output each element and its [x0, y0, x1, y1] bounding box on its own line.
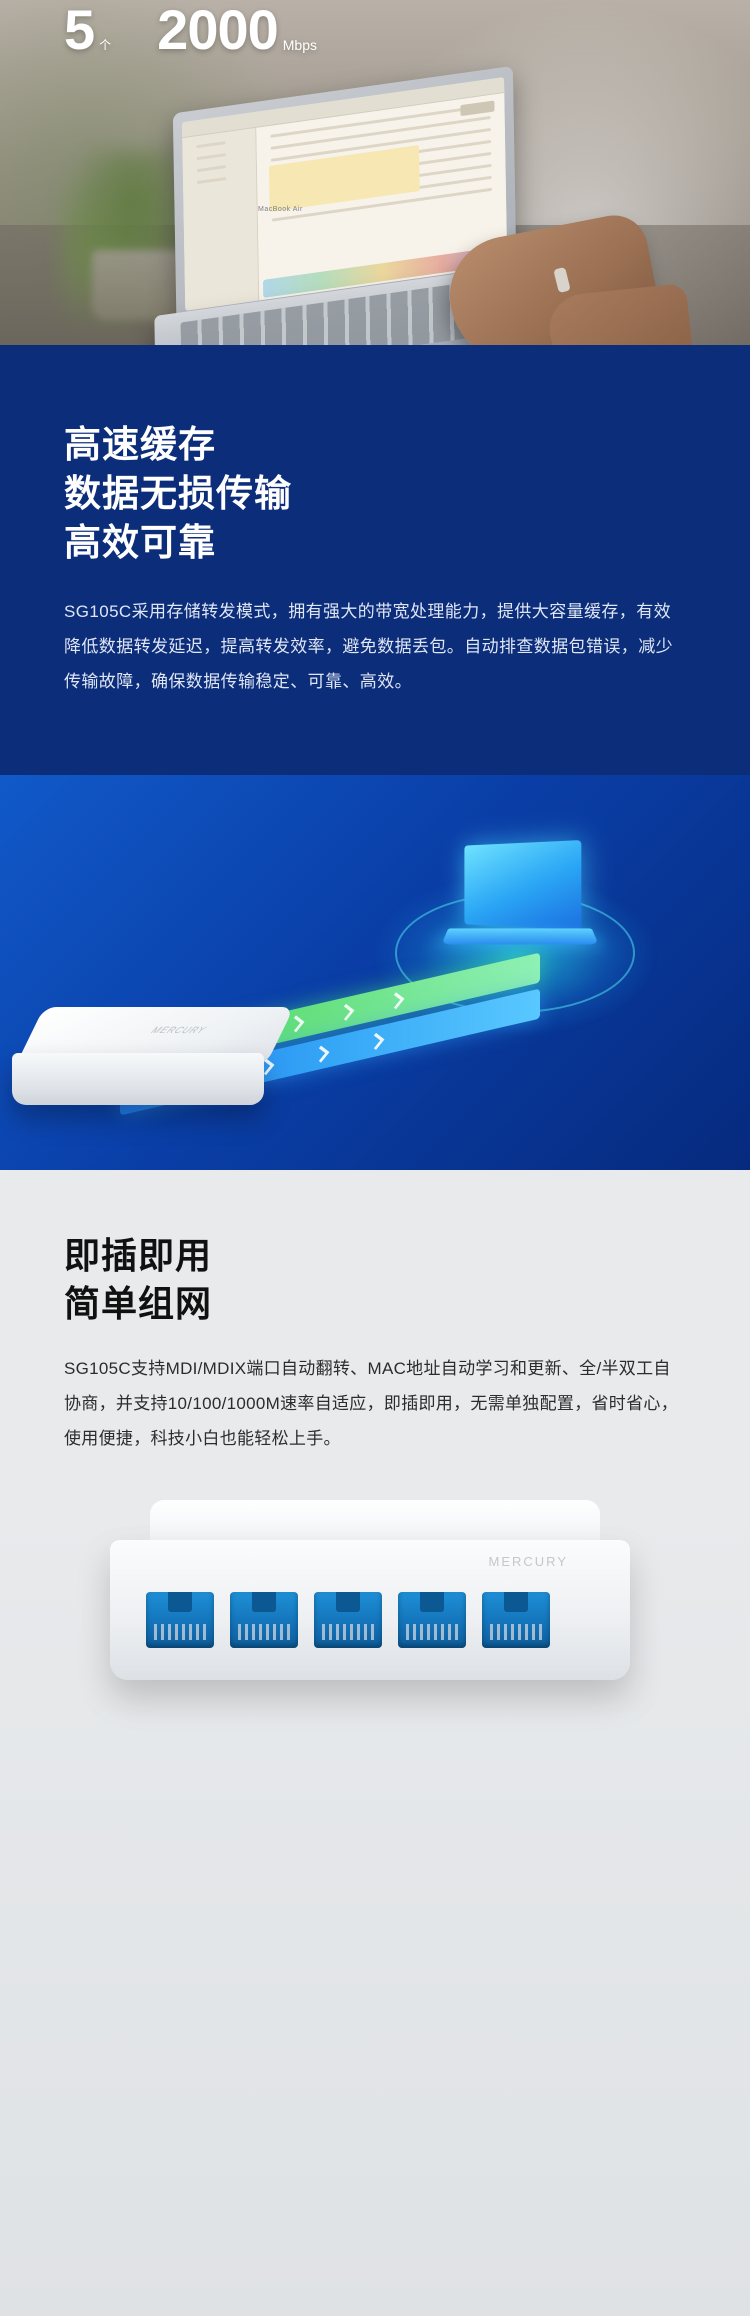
bottom-product-section: MERCURY: [0, 1480, 750, 2316]
blue-section-body: SG105C采用存储转发模式，拥有强大的带宽处理能力，提供大容量缓存，有效降低数…: [64, 595, 686, 700]
screen-sidebar: [182, 128, 259, 311]
port-pins: [322, 1624, 374, 1640]
stat-speed: 2000 Mbps: [157, 2, 317, 58]
stat-ports-unit: 个: [99, 36, 111, 58]
gray-title-line-1: 即插即用: [64, 1232, 686, 1280]
gray-section-body: SG105C支持MDI/MDIX端口自动翻转、MAC地址自动学习和更新、全/半双…: [64, 1352, 686, 1457]
blue-title-line-2: 数据无损传输: [64, 470, 686, 519]
ethernet-port: [146, 1592, 214, 1648]
network-topology-section: MERCURY: [0, 775, 750, 1170]
hero-stats: 5 个 2000 Mbps: [0, 0, 750, 58]
chevron-right-icon: [388, 992, 405, 1009]
stat-speed-number: 2000: [157, 2, 278, 58]
gray-section-title: 即插即用 简单组网: [64, 1232, 686, 1328]
ethernet-port: [398, 1592, 466, 1648]
blue-feature-section: 高速缓存 数据无损传输 高效可靠 SG105C采用存储转发模式，拥有强大的带宽处…: [0, 345, 750, 775]
port-pins: [238, 1624, 290, 1640]
switch-front-product-image: MERCURY: [110, 1500, 630, 1730]
plant-pot: [92, 250, 184, 320]
switch-front-brand-logo: MERCURY: [489, 1554, 569, 1569]
blue-section-title: 高速缓存 数据无损传输 高效可靠: [64, 421, 686, 567]
chevron-right-icon: [368, 1033, 385, 1050]
laptop-brand-label: MacBook Air: [258, 206, 303, 213]
chevron-right-icon: [313, 1046, 330, 1063]
hero-section: MacBook Air 5 个 2000 Mbps: [0, 0, 750, 345]
screen-sidebar-line: [197, 165, 226, 172]
stat-speed-unit: Mbps: [283, 37, 317, 58]
port-pins: [490, 1624, 542, 1640]
gray-title-line-2: 简单组网: [64, 1280, 686, 1328]
stat-ports: 5 个: [64, 2, 111, 58]
ethernet-port: [482, 1592, 550, 1648]
port-pins: [406, 1624, 458, 1640]
ethernet-port: [314, 1592, 382, 1648]
switch-brand-logo: MERCURY: [148, 1025, 210, 1035]
stat-ports-number: 5: [64, 2, 94, 58]
switch-front-panel: MERCURY: [110, 1540, 630, 1680]
ethernet-port-row: [146, 1592, 550, 1648]
screen-sidebar-line: [197, 177, 226, 184]
ethernet-port: [230, 1592, 298, 1648]
gray-feature-section: 即插即用 简单组网 SG105C支持MDI/MDIX端口自动翻转、MAC地址自动…: [0, 1170, 750, 1480]
blue-title-line-3: 高效可靠: [64, 519, 686, 568]
switch-product-image: MERCURY: [30, 1007, 298, 1127]
switch-front-face: [12, 1053, 264, 1105]
laptop-icon-lid: [464, 840, 581, 930]
product-detail-page: MacBook Air 5 个 2000 Mbps 高速缓存 数据无损传输 高效…: [0, 0, 750, 2316]
blue-title-line-1: 高速缓存: [64, 421, 686, 470]
port-pins: [154, 1624, 206, 1640]
chevron-right-icon: [338, 1004, 355, 1021]
laptop-icon-base: [441, 928, 598, 944]
screen-sidebar-line: [196, 141, 225, 148]
laptop-icon: [445, 843, 595, 961]
screen-sidebar-line: [197, 153, 226, 160]
